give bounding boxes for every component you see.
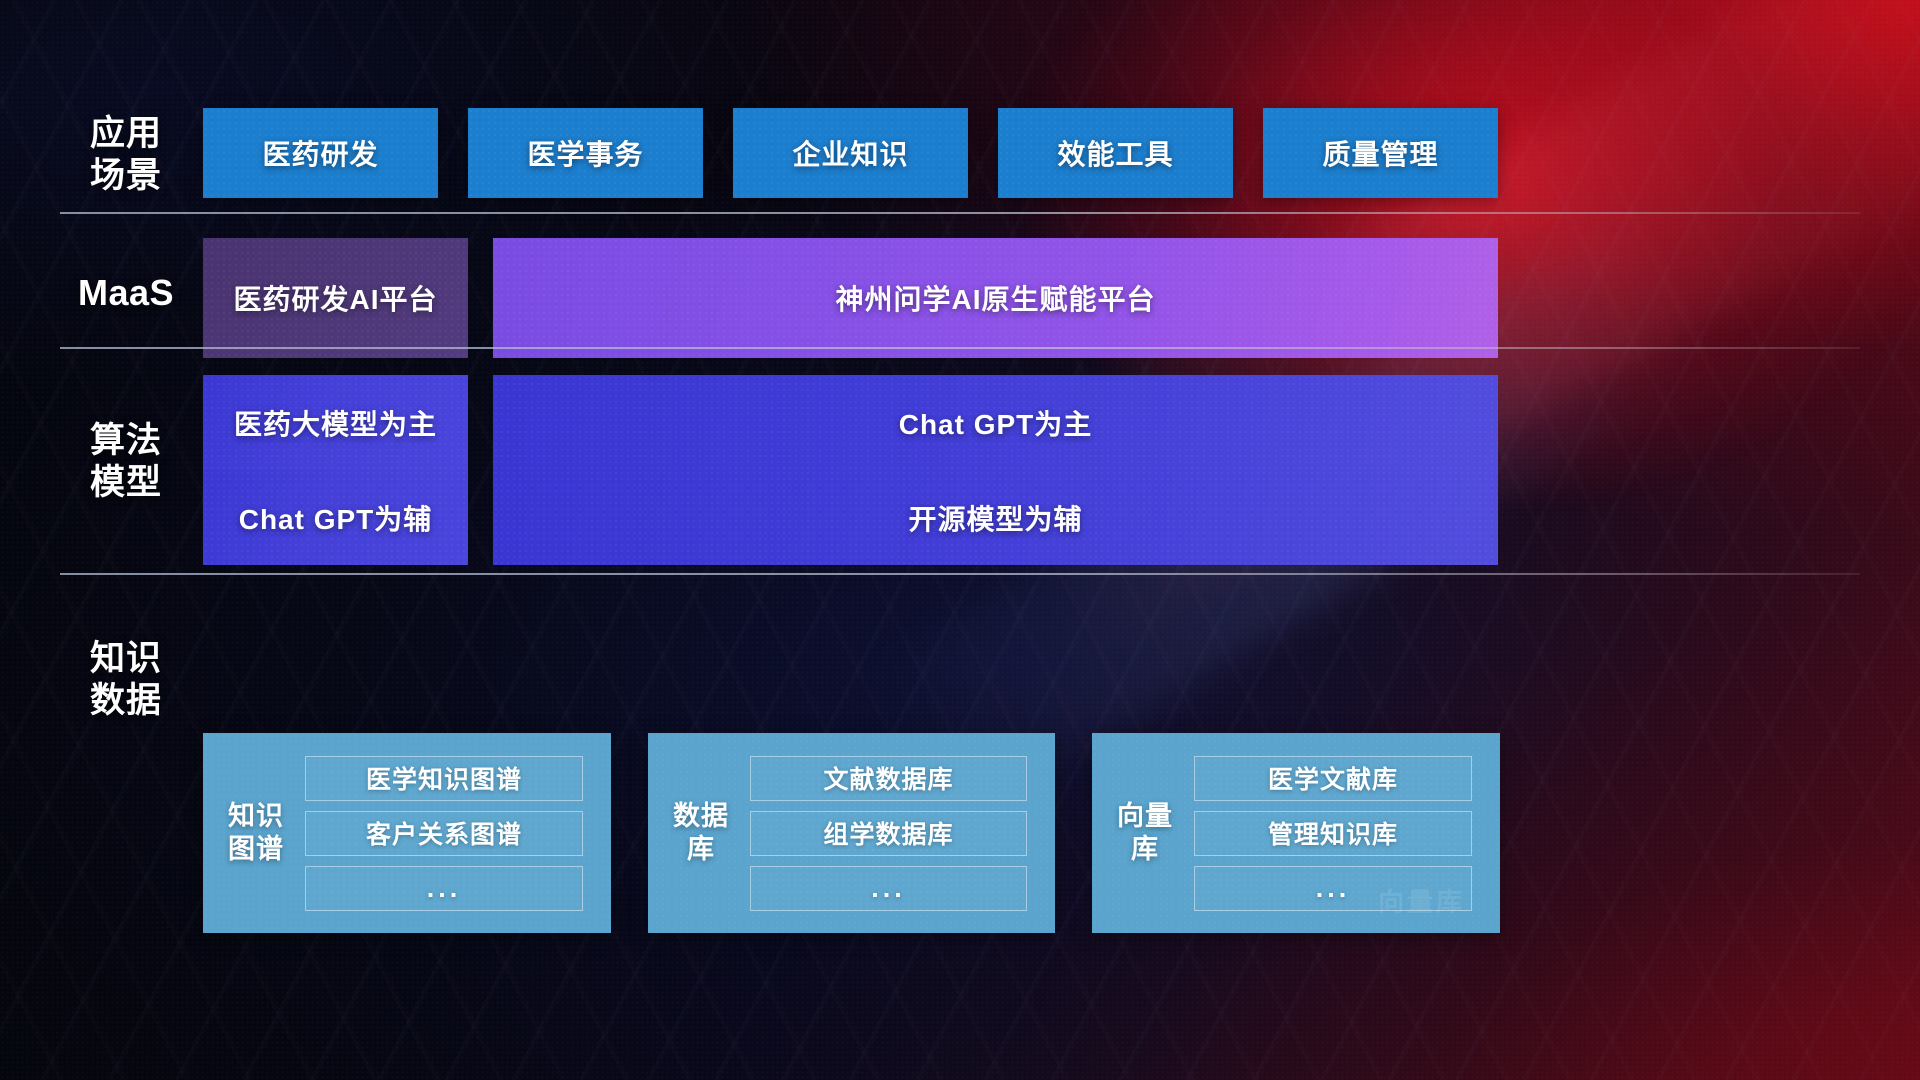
knowledge-panel-database[interactable]: 数据库 文献数据库 组学数据库 ...: [648, 733, 1055, 933]
knowledge-panel-title: 知识图谱: [225, 800, 287, 866]
knowledge-item[interactable]: 组学数据库: [750, 811, 1027, 856]
row-label-maas: MaaS: [60, 272, 192, 314]
app-card-label: 效能工具: [1057, 133, 1173, 173]
app-card-label: 质量管理: [1322, 133, 1438, 173]
maas-card-label: 医药研发AI平台: [233, 278, 437, 318]
knowledge-item-more[interactable]: ...: [750, 866, 1027, 911]
knowledge-item-more[interactable]: ...: [1194, 866, 1472, 911]
app-card-label: 医药研发: [262, 133, 378, 173]
knowledge-item[interactable]: 管理知识库: [1194, 811, 1472, 856]
app-card-label: 医学事务: [527, 133, 643, 173]
knowledge-item[interactable]: 客户关系图谱: [305, 811, 583, 856]
knowledge-item-more[interactable]: ...: [305, 866, 583, 911]
knowledge-item[interactable]: 医学文献库: [1194, 756, 1472, 801]
knowledge-panel-knowledge-graph[interactable]: 知识图谱 医学知识图谱 客户关系图谱 ...: [203, 733, 611, 933]
algo-card-medicine-large-model-primary[interactable]: 医药大模型为主: [203, 375, 468, 470]
row-label-application: 应用 场景: [60, 113, 192, 197]
algo-card-label: Chat GPT为辅: [239, 498, 433, 538]
architecture-diagram: 应用 场景 医药研发 医学事务 企业知识 效能工具 质量管理 MaaS 医药研发…: [0, 0, 1920, 1080]
app-card-enterprise-knowledge[interactable]: 企业知识: [733, 108, 968, 198]
app-card-medicine-rnd[interactable]: 医药研发: [203, 108, 438, 198]
knowledge-panel-vector-store[interactable]: 向量库 医学文献库 管理知识库 ...: [1092, 733, 1500, 933]
app-card-medical-affairs[interactable]: 医学事务: [468, 108, 703, 198]
divider-application-maas: [60, 212, 1860, 214]
knowledge-item[interactable]: 文献数据库: [750, 756, 1027, 801]
knowledge-item[interactable]: 医学知识图谱: [305, 756, 583, 801]
knowledge-panel-items: 文献数据库 组学数据库 ...: [750, 756, 1027, 911]
algo-card-label: 开源模型为辅: [908, 498, 1082, 538]
algo-card-label: Chat GPT为主: [899, 403, 1093, 443]
knowledge-panel-items: 医学知识图谱 客户关系图谱 ...: [305, 756, 583, 911]
knowledge-panel-items: 医学文献库 管理知识库 ...: [1194, 756, 1472, 911]
divider-algorithm-knowledge: [60, 573, 1860, 575]
maas-card-medicine-ai-platform[interactable]: 医药研发AI平台: [203, 238, 468, 358]
maas-card-shenzhou-wenxue-platform[interactable]: 神州问学AI原生赋能平台: [493, 238, 1498, 358]
knowledge-panel-title: 向量库: [1114, 800, 1176, 866]
knowledge-panel-title: 数据库: [670, 800, 732, 866]
row-label-algorithm: 算法 模型: [60, 420, 192, 504]
algo-card-opensource-secondary[interactable]: 开源模型为辅: [493, 470, 1498, 565]
algo-card-chatgpt-secondary[interactable]: Chat GPT为辅: [203, 470, 468, 565]
app-card-quality-management[interactable]: 质量管理: [1263, 108, 1498, 198]
row-label-knowledge: 知识 数据: [60, 638, 192, 722]
app-card-label: 企业知识: [792, 133, 908, 173]
maas-card-label: 神州问学AI原生赋能平台: [835, 278, 1155, 318]
app-card-efficiency-tools[interactable]: 效能工具: [998, 108, 1233, 198]
algo-card-label: 医药大模型为主: [234, 403, 437, 443]
algo-card-chatgpt-primary[interactable]: Chat GPT为主: [493, 375, 1498, 470]
divider-maas-algorithm: [60, 347, 1860, 349]
